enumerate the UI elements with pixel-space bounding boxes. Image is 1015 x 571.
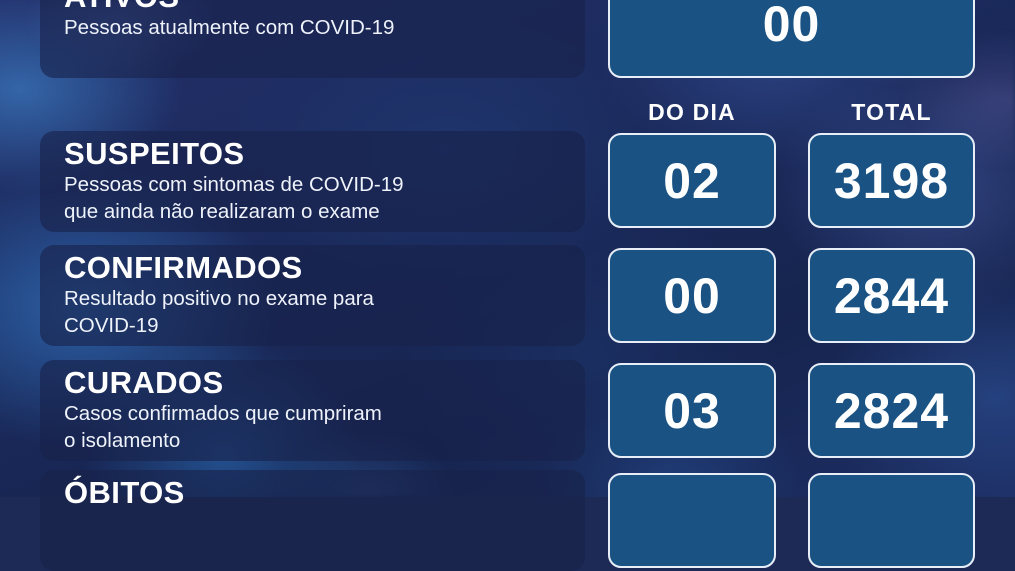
value-confirmados-day: 00 — [663, 271, 721, 321]
value-box-confirmados-total[interactable]: 2844 — [808, 248, 975, 343]
value-box-suspeitos-total[interactable]: 3198 — [808, 133, 975, 228]
column-header-do-dia: DO DIA — [608, 99, 776, 126]
stat-title-obitos: ÓBITOS — [64, 476, 585, 509]
label-card-curados: CURADOS Casos confirmados que cumpriram … — [40, 360, 585, 461]
stat-description-ativos: Pessoas atualmente com COVID-19 — [64, 15, 585, 40]
covid-stats-panel: ATIVOS Pessoas atualmente com COVID-19 0… — [0, 0, 1015, 497]
value-box-curados-day[interactable]: 03 — [608, 363, 776, 458]
value-suspeitos-day: 02 — [663, 156, 721, 206]
stat-description-suspeitos-line2: que ainda não realizaram o exame — [64, 199, 585, 224]
value-confirmados-total: 2844 — [834, 271, 949, 321]
value-box-obitos-total[interactable] — [808, 473, 975, 568]
value-curados-day: 03 — [663, 386, 721, 436]
value-box-confirmados-day[interactable]: 00 — [608, 248, 776, 343]
value-box-curados-total[interactable]: 2824 — [808, 363, 975, 458]
value-box-ativos-total[interactable]: 00 — [608, 0, 975, 78]
column-header-total: TOTAL — [808, 99, 975, 126]
value-suspeitos-total: 3198 — [834, 156, 949, 206]
value-box-obitos-day[interactable] — [608, 473, 776, 568]
stat-description-curados-line2: o isolamento — [64, 428, 585, 453]
label-card-obitos: ÓBITOS — [40, 470, 585, 571]
label-card-confirmados: CONFIRMADOS Resultado positivo no exame … — [40, 245, 585, 346]
stat-description-curados-line1: Casos confirmados que cumpriram — [64, 401, 585, 426]
stat-title-ativos: ATIVOS — [64, 0, 585, 13]
stat-description-suspeitos-line1: Pessoas com sintomas de COVID-19 — [64, 172, 585, 197]
stat-title-curados: CURADOS — [64, 366, 585, 399]
value-box-suspeitos-day[interactable]: 02 — [608, 133, 776, 228]
value-curados-total: 2824 — [834, 386, 949, 436]
stat-description-confirmados-line2: COVID-19 — [64, 313, 585, 338]
value-ativos-total: 00 — [763, 0, 821, 49]
stat-description-confirmados-line1: Resultado positivo no exame para — [64, 286, 585, 311]
stat-title-confirmados: CONFIRMADOS — [64, 251, 585, 284]
stat-title-suspeitos: SUSPEITOS — [64, 137, 585, 170]
label-card-suspeitos: SUSPEITOS Pessoas com sintomas de COVID-… — [40, 131, 585, 232]
label-card-ativos: ATIVOS Pessoas atualmente com COVID-19 — [40, 0, 585, 78]
